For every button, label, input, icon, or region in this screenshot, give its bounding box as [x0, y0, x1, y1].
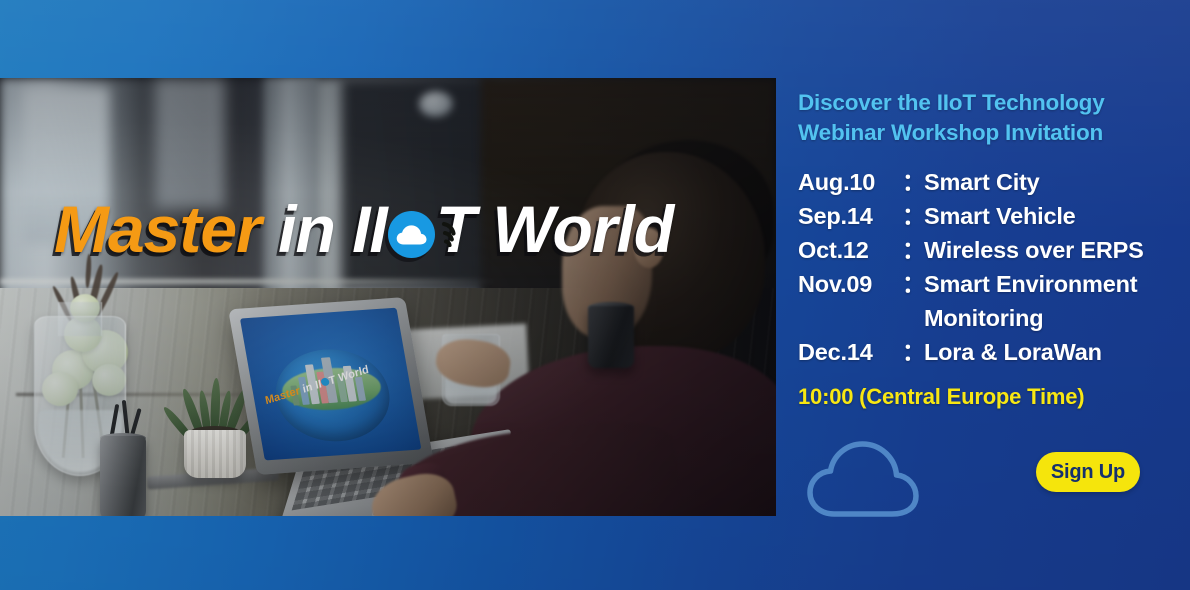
- photo-scene: Master in IIT World: [0, 78, 776, 516]
- cloud-decoration-icon: [806, 430, 924, 518]
- schedule-date: Aug.10: [798, 165, 902, 199]
- cloud-badge-icon: [388, 211, 435, 258]
- hero-title: Master in IIT World: [54, 196, 673, 262]
- panel-heading-line-2: Webinar Workshop Invitation: [798, 118, 1178, 148]
- hero-title-t-world: T World: [436, 192, 673, 266]
- schedule-topic-continuation: Monitoring: [798, 301, 1178, 335]
- signal-arcs-icon: [434, 207, 460, 237]
- cloud-outline-glyph-icon: [806, 430, 924, 518]
- schedule-row: Oct.12 ： Wireless over ERPS: [798, 233, 1178, 267]
- schedule-date: Sep.14: [798, 199, 902, 233]
- coffee-mug: [588, 306, 634, 368]
- schedule-topic: Wireless over ERPS: [924, 233, 1178, 267]
- laptop-screen: Master in IIT World: [240, 308, 421, 461]
- schedule-topic: Smart Vehicle: [924, 199, 1178, 233]
- schedule-date: Dec.14: [798, 335, 902, 369]
- cloud-glyph-icon: [395, 224, 428, 246]
- schedule-row: Aug.10 ： Smart City: [798, 165, 1178, 199]
- webinar-time-note: 10:00 (Central Europe Time): [798, 384, 1178, 410]
- hero-title-in-ii: in II: [278, 192, 387, 266]
- schedule-row: Sep.14 ： Smart Vehicle: [798, 199, 1178, 233]
- schedule-separator: ：: [902, 233, 924, 267]
- schedule-separator: ：: [902, 165, 924, 199]
- pen-cup: [100, 436, 146, 516]
- window-light-secondary: [155, 78, 225, 209]
- wifi-arc-glyph-icon: [441, 220, 467, 250]
- schedule-separator: ：: [902, 267, 924, 301]
- webinar-schedule-list: Aug.10 ： Smart City Sep.14 ： Smart Vehic…: [798, 165, 1178, 369]
- laptop-lid: Master in IIT World: [228, 297, 434, 475]
- schedule-topic: Smart Environment: [924, 267, 1178, 301]
- hero-photo: Master in IIT World Master in IIT World …: [0, 78, 776, 516]
- schedule-separator: ：: [902, 199, 924, 233]
- schedule-topic: Smart City: [924, 165, 1178, 199]
- sign-up-button[interactable]: Sign Up: [1036, 452, 1140, 492]
- panel-heading: Discover the IIoT Technology Webinar Wor…: [798, 88, 1178, 148]
- hero-title-master: Master: [54, 192, 261, 266]
- schedule-row: Dec.14 ： Lora & LoraWan: [798, 335, 1178, 369]
- webinar-invitation-banner: Master in IIT World Master in IIT World …: [0, 0, 1190, 590]
- schedule-date: Nov.09: [798, 267, 902, 301]
- schedule-topic: Lora & LoraWan: [924, 335, 1178, 369]
- background-lamp: [419, 91, 453, 117]
- schedule-row: Nov.09 ： Smart Environment: [798, 267, 1178, 301]
- panel-heading-line-1: Discover the IIoT Technology: [798, 88, 1178, 118]
- schedule-separator: ：: [902, 335, 924, 369]
- schedule-date: Oct.12: [798, 233, 902, 267]
- plant-pot: [184, 430, 246, 478]
- invitation-panel: Discover the IIoT Technology Webinar Wor…: [798, 88, 1178, 410]
